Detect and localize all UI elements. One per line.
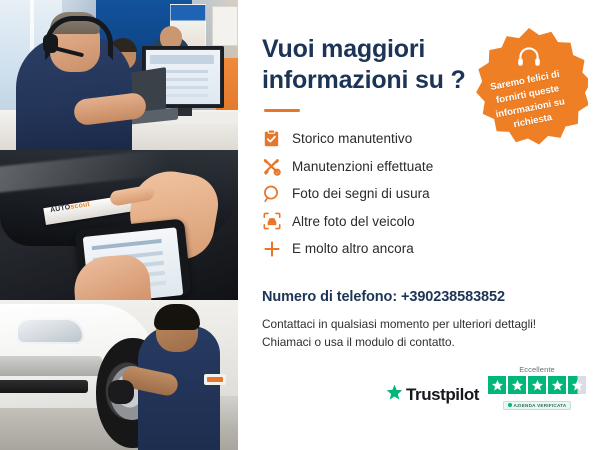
info-request-banner: AUTOscout Vuoi maggiori info	[0, 0, 600, 450]
car-headlight-decor	[16, 318, 84, 344]
contact-line-2: Chiamaci o usa il modulo di contatto.	[262, 333, 578, 352]
car-scan-icon	[262, 212, 281, 231]
wall-poster-secondary-decor	[212, 6, 238, 46]
tools-cross-icon	[262, 157, 281, 176]
trustpilot-logo: Trustpilot	[386, 384, 479, 412]
trustpilot-wordmark: Trustpilot	[406, 385, 479, 405]
page-title: Vuoi maggiori informazioni su ?	[262, 34, 472, 95]
feature-item-molto-altro: E molto altro ancora	[262, 235, 522, 263]
trustpilot-star-4	[548, 376, 566, 394]
feature-item-label: Storico manutentivo	[292, 131, 412, 146]
car-lower-grille-decor	[0, 380, 88, 393]
feature-item-label: Foto dei segni di usura	[292, 186, 430, 201]
verified-business-label: AZIENDA VERIFICATA	[514, 403, 567, 408]
trustpilot-rating-label: Eccellente	[488, 365, 586, 374]
callout-badge: Saremo felici di fornirti queste informa…	[470, 28, 588, 146]
verified-business-badge: AZIENDA VERIFICATA	[503, 401, 572, 410]
mechanic-wheel-service-photo	[0, 300, 238, 450]
photo-column: AUTOscout	[0, 0, 238, 450]
trustpilot-rating[interactable]: Trustpilot Eccellente	[386, 365, 586, 412]
phone-number[interactable]: +390238583852	[401, 289, 505, 305]
content-panel: Vuoi maggiori informazioni su ? Saremo f…	[238, 0, 600, 450]
feature-item-manutenzioni-effettuate: Manutenzioni effettuate	[262, 153, 522, 181]
trustpilot-stars	[488, 376, 586, 394]
phone-line: Numero di telefono: +390238583852	[262, 289, 578, 305]
verified-check-icon	[508, 403, 512, 407]
trustpilot-star-icon	[386, 384, 403, 406]
feature-item-label: Manutenzioni effettuate	[292, 159, 433, 174]
contact-line-1: Contattaci in qualsiasi momento per ulte…	[262, 315, 578, 334]
title-underline-rule	[264, 109, 300, 112]
contact-instructions: Contattaci in qualsiasi momento per ulte…	[262, 315, 578, 352]
vehicle-inspection-tablet-photo: AUTOscout	[0, 150, 238, 300]
mechanic-hair-decor	[154, 304, 200, 330]
car-bumper-decor	[0, 356, 102, 376]
magnifier-icon	[262, 184, 281, 203]
feature-item-label: Altre foto del veicolo	[292, 214, 415, 229]
phone-label: Numero di telefono:	[262, 289, 397, 305]
uniform-badge-decor	[204, 374, 226, 385]
feature-item-label: E molto altro ancora	[292, 241, 414, 256]
trustpilot-star-2	[508, 376, 526, 394]
trustpilot-score-block: Eccellente	[488, 365, 586, 412]
trustpilot-star-3	[528, 376, 546, 394]
mechanic-glove-decor	[108, 380, 134, 404]
plus-icon	[262, 239, 281, 258]
trustpilot-star-1	[488, 376, 506, 394]
clipboard-check-icon	[262, 129, 281, 148]
feature-item-foto-segni-usura: Foto dei segni di usura	[262, 180, 522, 208]
trustpilot-star-5-half	[568, 376, 586, 394]
feature-item-altre-foto-veicolo: Altre foto del veicolo	[262, 208, 522, 236]
call-center-agent-headset-photo	[0, 0, 238, 150]
